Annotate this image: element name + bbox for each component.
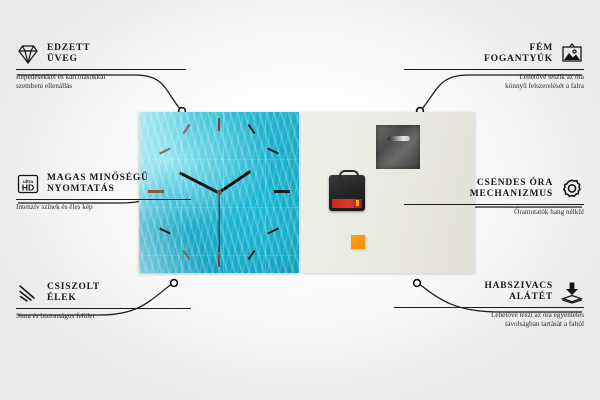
feature-csiszolt-elek: CSISZOLT ÉLEK Sima és biztonságos felüle… [16, 281, 191, 321]
gear-icon [560, 177, 584, 201]
tick-8 [159, 227, 171, 234]
feature-title-line1: EDZETT [47, 43, 90, 55]
tick-3 [274, 190, 290, 193]
feature-fem-fogantyuk: FÉM FOGANTYÚK Lehetővé teszik az óra kön… [404, 42, 584, 91]
foam-pad-arrow-icon [560, 280, 584, 304]
feature-desc-line1: Repedésekkel és karcolásokkal [16, 73, 186, 82]
tick-2 [267, 147, 279, 154]
feature-title-line2: NYOMTATÁS [47, 184, 149, 196]
metal-hanger [376, 125, 420, 169]
tick-1 [248, 124, 256, 134]
feature-header: CSENDES ÓRA MECHANIZMUS [404, 177, 584, 201]
feature-desc-line1: Lehetővé teszik az óra [404, 73, 584, 82]
feature-title-line2: FOGANTYÚK [484, 54, 553, 66]
picture-hanger-icon [560, 42, 584, 66]
feature-header: ultra HD MAGAS MINŐSÉGŰ NYOMTATÁS [16, 172, 191, 196]
feature-title-line2: MECHANIZMUS [470, 189, 553, 201]
tick-6 [218, 254, 220, 267]
quartz-mechanism [329, 175, 365, 211]
second-hand [218, 193, 219, 253]
feature-title-line2: ÉLEK [47, 293, 100, 305]
feature-divider [394, 307, 584, 308]
feature-desc-line1: Intenzív színek és éles kép [16, 203, 191, 212]
feature-title-line1: CSISZOLT [47, 282, 100, 294]
feature-divider [404, 204, 584, 205]
feature-divider [16, 308, 191, 309]
feature-edzett-uveg: EDZETT ÜVEG Repedésekkel és karcolásokka… [16, 42, 186, 91]
feature-divider [16, 199, 191, 200]
tick-5 [248, 250, 256, 260]
infographic-canvas: EDZETT ÜVEG Repedésekkel és karcolásokka… [0, 0, 600, 400]
tick-12 [218, 118, 220, 131]
feature-title-line1: HABSZIVACS [484, 281, 553, 293]
feature-title-line2: ALÁTÉT [484, 292, 553, 304]
feature-csendes-ora-mechanizmus: CSENDES ÓRA MECHANIZMUS Óramutatók hang … [404, 177, 584, 217]
polished-edges-icon [16, 281, 40, 305]
feature-magas-minosegu-nyomtatas: ultra HD MAGAS MINŐSÉGŰ NYOMTATÁS Intenz… [16, 172, 191, 212]
feature-title-line1: MAGAS MINŐSÉGŰ [47, 173, 149, 185]
tick-4 [267, 227, 279, 234]
feature-header: EDZETT ÜVEG [16, 42, 186, 66]
feature-header: CSISZOLT ÉLEK [16, 281, 191, 305]
feature-desc-line1: Sima és biztonságos felület [16, 312, 191, 321]
hanger-slot [388, 136, 410, 141]
feature-habszivacs-alatet: HABSZIVACS ALÁTÉT Lehetővé teszi az óra … [394, 280, 584, 329]
feature-desc-line2: könnyű felszerelését a falra [404, 82, 584, 91]
battery-label [332, 199, 362, 208]
feature-desc-line2: szembeni ellenállás [16, 82, 186, 91]
feature-desc-line1: Óramutatók hang nélkül [404, 208, 584, 217]
tick-11 [183, 124, 191, 134]
feature-title-line1: CSENDES ÓRA [470, 178, 553, 190]
hour-hand [218, 170, 251, 194]
tick-10 [159, 147, 171, 154]
feature-title-line1: FÉM [484, 43, 553, 55]
tick-7 [183, 250, 191, 260]
feature-desc-line1: Lehetővé teszi az óra egyenletes [394, 311, 584, 320]
clock-center-hub [217, 190, 222, 195]
feature-divider [404, 69, 584, 70]
feature-desc-line2: távolságban tartását a faltól [394, 320, 584, 329]
feature-divider [16, 69, 186, 70]
diamond-icon [16, 42, 40, 66]
hd-label: HD [22, 182, 34, 192]
feature-header: FÉM FOGANTYÚK [404, 42, 584, 66]
mechanism-loop [339, 170, 359, 180]
feature-header: HABSZIVACS ALÁTÉT [394, 280, 584, 304]
foam-pad [351, 235, 365, 249]
feature-title-line2: ÜVEG [47, 54, 90, 66]
ultra-hd-badge-icon: ultra HD [16, 172, 40, 196]
